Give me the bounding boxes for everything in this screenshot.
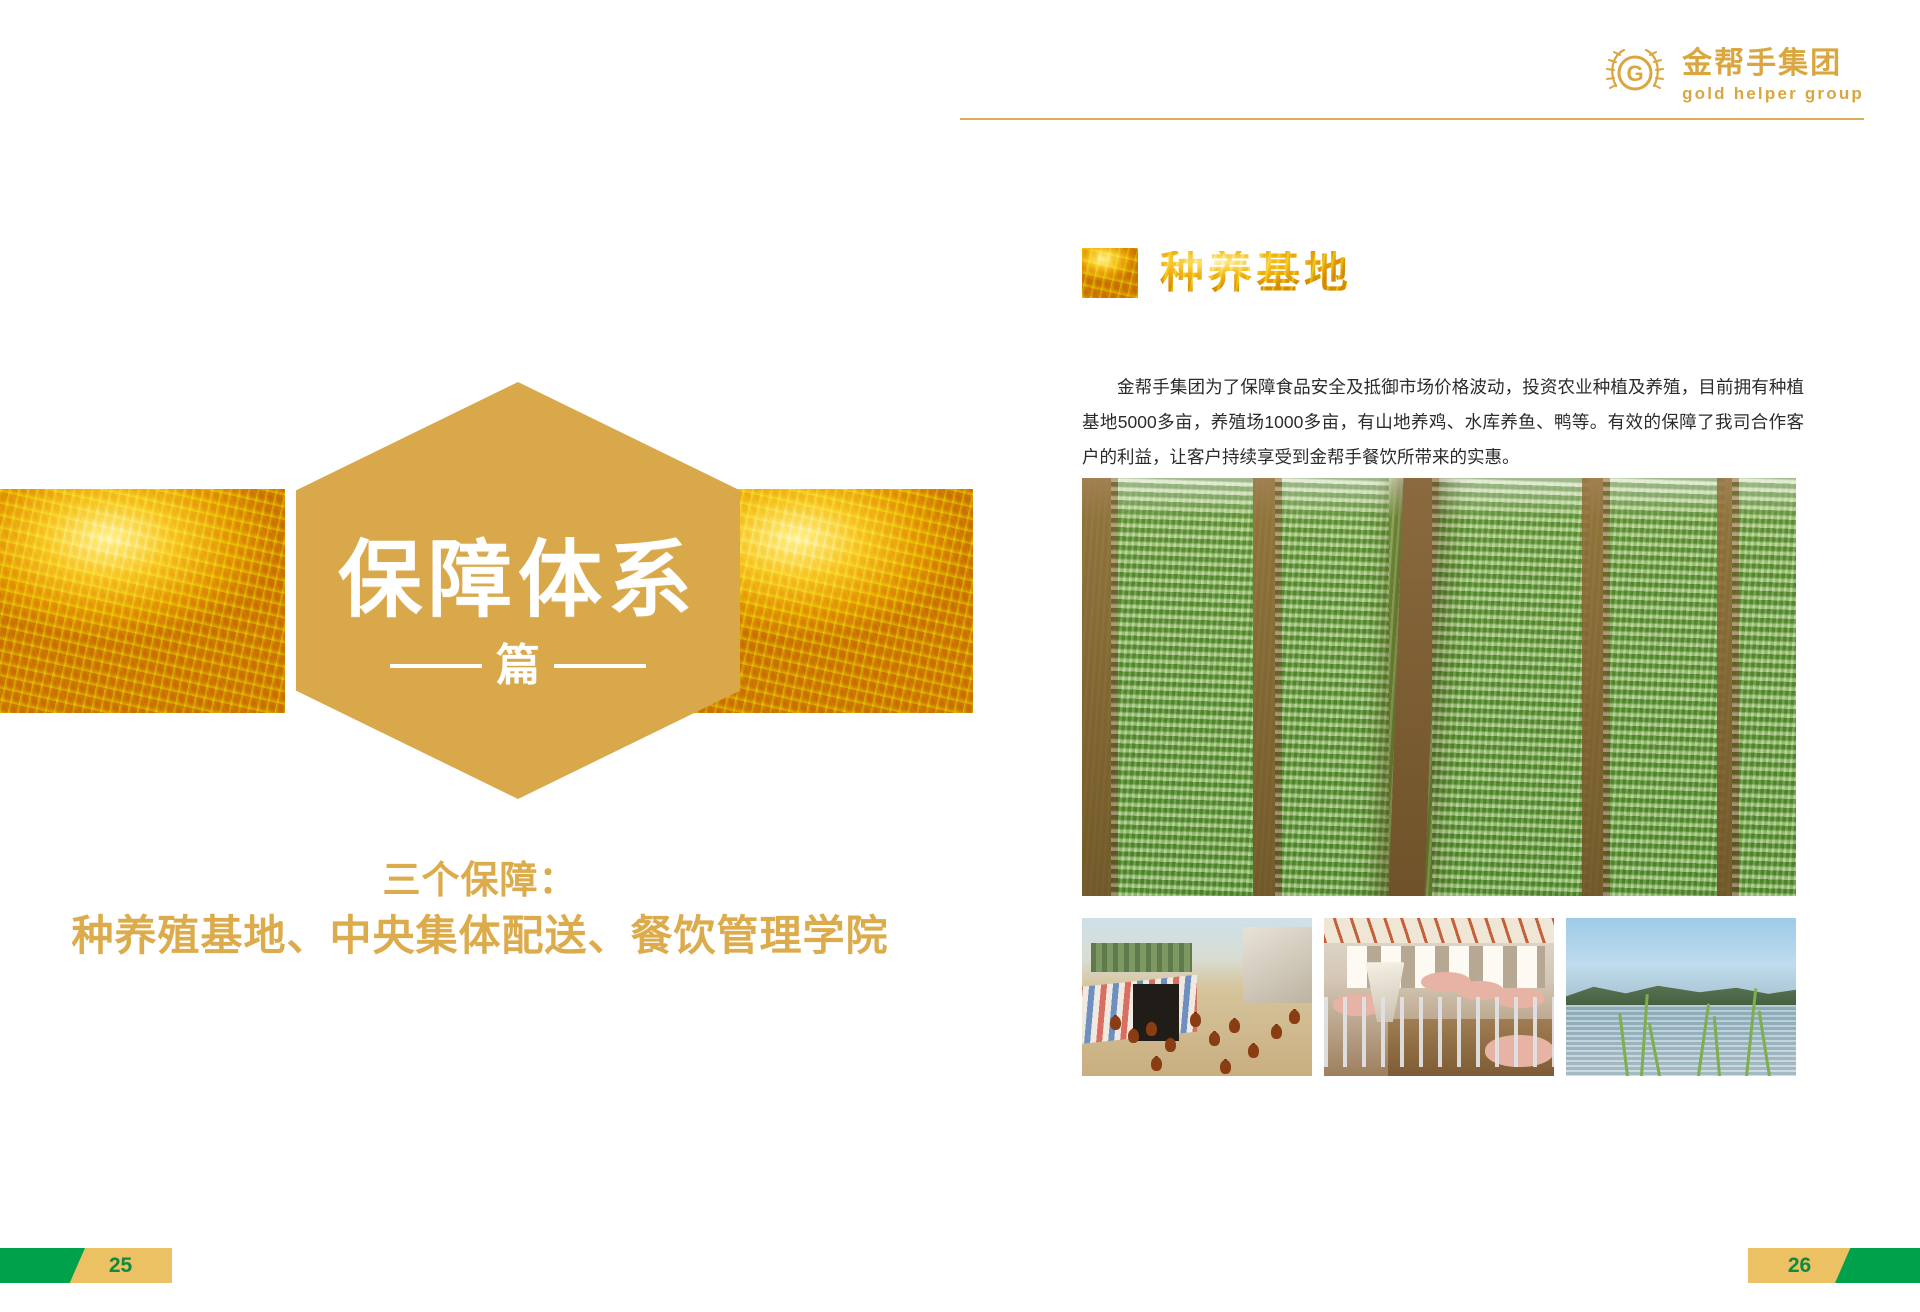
crop-row: [1275, 478, 1389, 896]
pig-barn-illustration: [1324, 918, 1554, 1076]
page-number-right: 26: [1788, 1254, 1811, 1278]
photo-free-range-chickens: [1082, 918, 1312, 1076]
hexagon-subtitle: 篇: [496, 644, 540, 688]
chicken-icon: [1289, 1010, 1300, 1024]
page-number-tab-left: 25: [0, 1248, 172, 1283]
header-divider: [960, 118, 1864, 120]
tree-line: [1091, 943, 1192, 971]
page-number-left: 25: [109, 1254, 132, 1278]
svg-text:G: G: [1627, 61, 1644, 86]
gold-foil-panel-left: [0, 489, 285, 713]
caption-line-2: 种养殖基地、中央集体配送、餐饮管理学院: [0, 907, 960, 965]
hexagon-subtitle-row: 篇: [390, 644, 646, 688]
pen-railing: [1324, 997, 1554, 1067]
hexagon-title: 保障体系: [338, 538, 698, 622]
left-page: 保障体系 篇 三个保障： 种养殖基地、中央集体配送、餐饮管理学院 25: [0, 0, 960, 1312]
chicken-icon: [1209, 1032, 1220, 1046]
brand-names: 金帮手集团 gold helper group: [1682, 49, 1864, 102]
crop-row: [1603, 478, 1724, 896]
barn-roof-trusses: [1324, 918, 1554, 943]
chicken-icon: [1165, 1038, 1176, 1052]
brand-lockup: G 金帮手集团 gold helper group: [1604, 44, 1864, 106]
photo-pig-barn: [1324, 918, 1554, 1076]
chicken-icon: [1128, 1029, 1139, 1043]
brand-name-cn: 金帮手集团: [1682, 49, 1864, 79]
rule-right-icon: [554, 664, 646, 668]
page-tab-gold-block: 25: [69, 1248, 172, 1283]
chicken-icon: [1229, 1019, 1240, 1033]
chicken-icon: [1110, 1016, 1121, 1030]
chicken-icon: [1151, 1057, 1162, 1071]
right-page: G 金帮手集团 gold helper group 种养基地 金帮手集团为了保障…: [960, 0, 1920, 1312]
caption-line-1: 三个保障：: [0, 855, 960, 907]
photo-reservoir: [1566, 918, 1796, 1076]
crop-row: [1111, 478, 1254, 896]
chicken-icon: [1220, 1060, 1231, 1074]
company-seal-icon: G: [1604, 44, 1666, 106]
chicken-farm-illustration: [1082, 918, 1312, 1076]
section-hexagon-badge: 保障体系 篇: [296, 382, 740, 799]
chicken-icon: [1190, 1013, 1201, 1027]
gold-square-icon: [1082, 248, 1138, 298]
page-tab-gold-block: 26: [1748, 1248, 1851, 1283]
brochure-spread: 保障体系 篇 三个保障： 种养殖基地、中央集体配送、餐饮管理学院 25: [0, 0, 1920, 1312]
section-title: 种养基地: [1160, 251, 1352, 295]
photo-vegetable-field: [1082, 478, 1796, 896]
reservoir-illustration: [1566, 918, 1796, 1076]
section-body-text: 金帮手集团为了保障食品安全及抵御市场价格波动，投资农业种植及养殖，目前拥有种植基…: [1082, 370, 1804, 475]
farm-shed: [1243, 927, 1312, 1003]
section-header: 种养基地: [1082, 248, 1352, 298]
crop-row: [1432, 478, 1589, 896]
left-page-caption: 三个保障： 种养殖基地、中央集体配送、餐饮管理学院: [0, 855, 960, 965]
chicken-icon: [1248, 1044, 1259, 1058]
vegetable-field-illustration: [1082, 478, 1796, 896]
crop-row: [1732, 478, 1796, 896]
chicken-icon: [1271, 1025, 1282, 1039]
rule-left-icon: [390, 664, 482, 668]
brand-name-en: gold helper group: [1682, 85, 1864, 102]
page-number-tab-right: 26: [1748, 1248, 1920, 1283]
hill-range: [1566, 981, 1796, 1006]
